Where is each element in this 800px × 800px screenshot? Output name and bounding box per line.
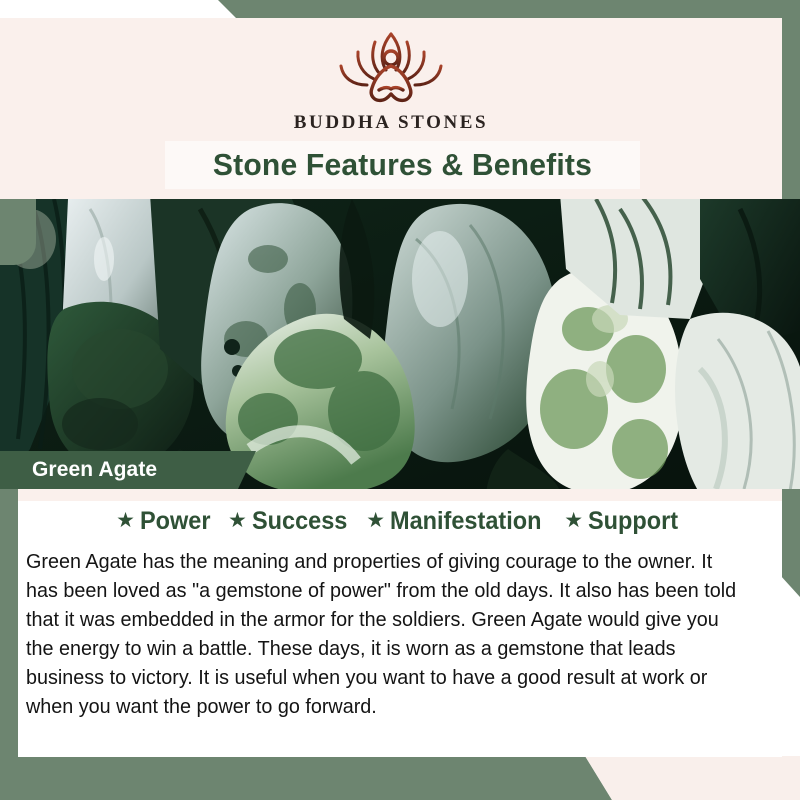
poster-header: BUDDHA STONES Stone Features & Benefits [0,18,782,200]
feature-item-manifestation: ★ Manifestation [366,507,551,536]
stone-photo [0,199,800,489]
feature-item-success: ★ Success [228,507,353,536]
brand-name: BUDDHA STONES [294,112,488,134]
star-icon: ★ [366,510,385,531]
feature-list: ★ Power ★ Success ★ Manifestation ★ Supp… [18,507,782,536]
feature-label: Power [140,507,211,536]
left-sage-strip [0,487,18,757]
page-title-plate: Stone Features & Benefits [165,141,640,189]
right-sage-tab [780,487,800,597]
lotus-meditation-logo-icon [325,26,457,110]
stone-description-panel: ★ Power ★ Success ★ Manifestation ★ Supp… [18,489,782,757]
stone-name: Green Agate [32,458,157,482]
star-icon: ★ [116,510,135,531]
stone-name-banner: Green Agate [0,451,256,489]
feature-label: Manifestation [390,507,541,536]
feature-label: Support [588,507,678,536]
panel-top-tint [18,489,782,501]
brand-logo-block: BUDDHA STONES [0,26,782,134]
right-sage-strip [782,0,800,205]
star-icon: ★ [564,510,583,531]
stone-description-text: Green Agate has the meaning and properti… [26,547,744,721]
page-title: Stone Features & Benefits [213,147,592,183]
feature-item-power: ★ Power [116,507,215,536]
green-agate-stones-image [0,199,800,489]
photo-corner-accent [0,199,36,265]
stone-info-poster: BUDDHA STONES Stone Features & Benefits [0,0,800,800]
feature-item-support: ★ Support [564,507,684,536]
star-icon: ★ [228,510,247,531]
feature-label: Success [252,507,347,536]
